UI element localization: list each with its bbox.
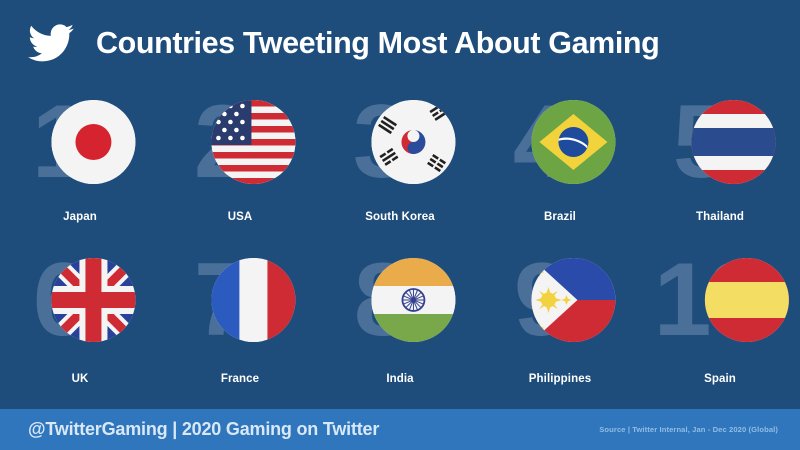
rank-country-label: USA: [160, 211, 320, 223]
ranking-row: 1 Japan 2: [0, 86, 800, 231]
page-title: Countries Tweeting Most About Gaming: [96, 26, 659, 61]
rank-country-label: France: [160, 373, 320, 385]
footer-handle: @TwitterGaming | 2020 Gaming on Twitter: [28, 419, 379, 440]
rank-country-label: South Korea: [320, 211, 480, 223]
rank-country-label: Spain: [640, 373, 800, 385]
rank-stage: 7: [160, 244, 320, 356]
rank-stage: 5: [640, 86, 800, 198]
rank-stage: 3: [320, 86, 480, 198]
flag-brazil-icon: [531, 100, 615, 184]
poster-header: Countries Tweeting Most About Gaming: [0, 0, 800, 86]
flag-south-korea-icon: [371, 100, 455, 184]
rank-stage: 9: [480, 244, 640, 356]
ranking-row: 6 UK 7: [0, 244, 800, 389]
flag-usa-icon: [211, 100, 295, 184]
rank-stage: 6: [0, 244, 160, 356]
flag-uk-icon: [51, 258, 135, 342]
infographic-poster: Countries Tweeting Most About Gaming 1 J…: [0, 0, 800, 450]
footer-bar: @TwitterGaming | 2020 Gaming on Twitter …: [0, 406, 800, 450]
rank-item-thailand: 5 Thailand: [640, 86, 800, 231]
flag-japan-icon: [51, 100, 135, 184]
rank-item-philippines: 9: [480, 244, 640, 389]
footer-source: Source | Twitter Internal, Jan - Dec 202…: [599, 425, 778, 434]
rank-item-france: 7 France: [160, 244, 320, 389]
rank-item-india: 8: [320, 244, 480, 389]
rank-stage: 4: [480, 86, 640, 198]
rank-item-spain: 10 Spain: [640, 244, 800, 389]
flag-philippines-icon: [531, 258, 615, 342]
rank-country-label: UK: [0, 373, 160, 385]
rank-stage: 10: [640, 244, 800, 356]
rank-item-south-korea: 3: [320, 86, 480, 231]
rank-country-label: India: [320, 373, 480, 385]
flag-spain-icon: [705, 258, 789, 342]
rank-item-brazil: 4 Brazil: [480, 86, 640, 231]
country-ranking-grid: 1 Japan 2: [0, 84, 800, 406]
twitter-bird-icon: [28, 24, 74, 64]
rank-item-uk: 6 UK: [0, 244, 160, 389]
rank-stage: 1: [0, 86, 160, 198]
rank-item-usa: 2: [160, 86, 320, 231]
flag-france-icon: [211, 258, 295, 342]
rank-stage: 8: [320, 244, 480, 356]
rank-stage: 2: [160, 86, 320, 198]
rank-country-label: Brazil: [480, 211, 640, 223]
flag-india-icon: [371, 258, 455, 342]
rank-country-label: Japan: [0, 211, 160, 223]
rank-country-label: Philippines: [480, 373, 640, 385]
flag-thailand-icon: [691, 100, 775, 184]
rank-item-japan: 1 Japan: [0, 86, 160, 231]
rank-country-label: Thailand: [640, 211, 800, 223]
